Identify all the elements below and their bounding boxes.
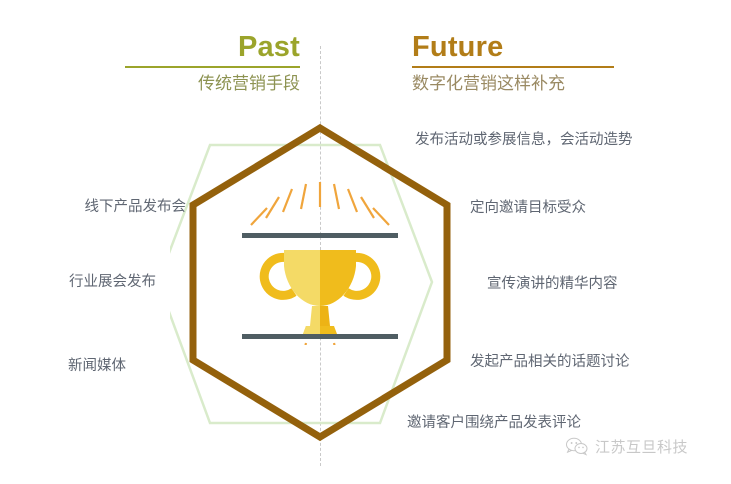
- trophy-emblem: [240, 180, 400, 345]
- watermark: 江苏互旦科技: [566, 436, 688, 457]
- past-label-1: 行业展会发布: [69, 272, 156, 292]
- future-heading-block: Future 数字化营销这样补充: [412, 30, 712, 96]
- trophy-base-light: [303, 326, 320, 334]
- past-title-rule: [125, 66, 300, 68]
- slide-canvas: Past 传统营销手段 Future 数字化营销这样补充: [0, 0, 731, 484]
- past-label-2: 新闻媒体: [68, 356, 126, 376]
- future-title-rule: [412, 66, 614, 68]
- wechat-icon: [566, 437, 588, 456]
- future-label-3: 发起产品相关的话题讨论: [470, 352, 630, 372]
- future-title: Future: [412, 30, 712, 64]
- future-subtitle: 数字化营销这样补充: [412, 72, 712, 96]
- past-label-0: 线下产品发布会: [85, 197, 187, 217]
- emblem-bar-bottom: [242, 334, 398, 339]
- future-label-1: 定向邀请目标受众: [470, 198, 586, 218]
- trophy-stem-light: [310, 306, 320, 326]
- past-heading-block: Past 传统营销手段: [60, 30, 300, 96]
- future-label-4: 邀请客户围绕产品发表评论: [407, 413, 581, 433]
- past-subtitle: 传统营销手段: [60, 72, 300, 96]
- trophy-stem-dark: [320, 306, 330, 326]
- ray-burst-bottom-icon: [266, 343, 374, 345]
- future-label-0: 发布活动或参展信息，会活动造势: [415, 130, 633, 150]
- emblem-bar-top: [242, 233, 398, 238]
- past-title: Past: [60, 30, 300, 64]
- future-label-2: 宣传演讲的精华内容: [487, 274, 618, 294]
- ray-burst-top-icon: [251, 182, 389, 225]
- watermark-text: 江苏互旦科技: [595, 436, 688, 457]
